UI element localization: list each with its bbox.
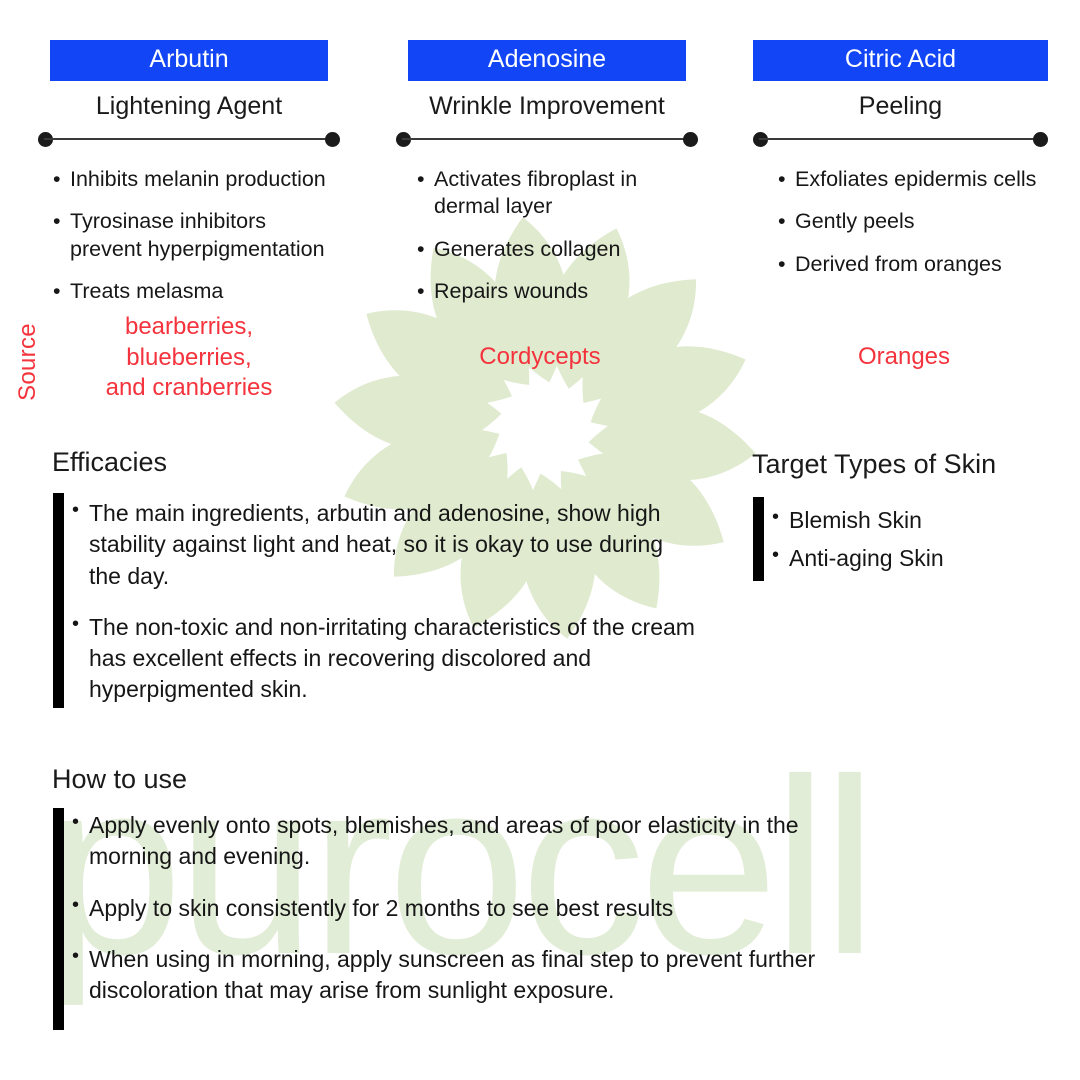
target-types-heading: Target Types of Skin [752,451,996,478]
rule-line [402,138,692,140]
list-item: Anti-aging Skin [770,543,1070,574]
list-item: Apply to skin consistently for 2 months … [70,893,830,924]
ingredient-feature-list: Inhibits melanin production Tyrosinase i… [50,166,340,306]
ingredient-column-adenosine: Adenosine Wrinkle Improvement Activates … [396,40,698,321]
target-types-list: Blemish Skin Anti-aging Skin [770,505,1070,575]
list-item: Activates fibroplast in dermal layer [414,166,698,221]
column-rule [38,130,340,148]
ingredient-feature-list: Activates fibroplast in dermal layer Gen… [414,166,698,306]
efficacies-list: The main ingredients, arbutin and adenos… [70,498,700,706]
list-item: Gently peels [775,208,1048,236]
ingredient-column-arbutin: Arbutin Lightening Agent Inhibits melani… [38,40,340,321]
efficacies-heading: Efficacies [52,449,167,476]
rule-line [44,138,334,140]
ingredient-function-label: Lightening Agent [38,93,340,121]
list-item: When using in morning, apply sunscreen a… [70,944,830,1007]
column-rule [753,130,1048,148]
rule-dot-right [325,132,340,147]
list-item: Treats melasma [50,278,340,306]
list-item: Inhibits melanin production [50,166,340,194]
rule-line [759,138,1042,140]
column-rule [396,130,698,148]
ingredient-name-chip: Adenosine [408,40,686,81]
ingredient-name-chip: Citric Acid [753,40,1048,81]
target-types-accent-bar [753,497,764,581]
source-value-arbutin: bearberries, blueberries, and cranberrie… [60,312,318,404]
list-item: Repairs wounds [414,278,698,306]
ingredient-function-label: Peeling [753,93,1048,121]
list-item: The main ingredients, arbutin and adenos… [70,498,700,592]
source-value-citric-acid: Oranges [760,342,1048,373]
source-value-adenosine: Cordycepts [400,342,680,373]
how-to-use-heading: How to use [52,766,187,793]
list-item: Blemish Skin [770,505,1070,536]
how-to-use-list: Apply evenly onto spots, blemishes, and … [70,810,830,1006]
list-item: Tyrosinase inhibitors prevent hyperpigme… [50,208,340,263]
list-item: Exfoliates epidermis cells [775,166,1048,194]
efficacies-accent-bar [53,493,64,708]
how-to-use-accent-bar [53,808,64,1030]
list-item: Derived from oranges [775,251,1048,279]
source-row-label: Source [14,312,42,412]
list-item: Generates collagen [414,236,698,264]
ingredient-feature-list: Exfoliates epidermis cells Gently peels … [775,166,1048,279]
list-item: Apply evenly onto spots, blemishes, and … [70,810,830,873]
rule-dot-right [1033,132,1048,147]
ingredient-column-citric-acid: Citric Acid Peeling Exfoliates epidermis… [753,40,1048,293]
rule-dot-right [683,132,698,147]
list-item: The non-toxic and non-irritating charact… [70,612,700,706]
infographic-content: Arbutin Lightening Agent Inhibits melani… [0,0,1080,1080]
ingredient-function-label: Wrinkle Improvement [396,93,698,121]
ingredient-name-chip: Arbutin [50,40,328,81]
